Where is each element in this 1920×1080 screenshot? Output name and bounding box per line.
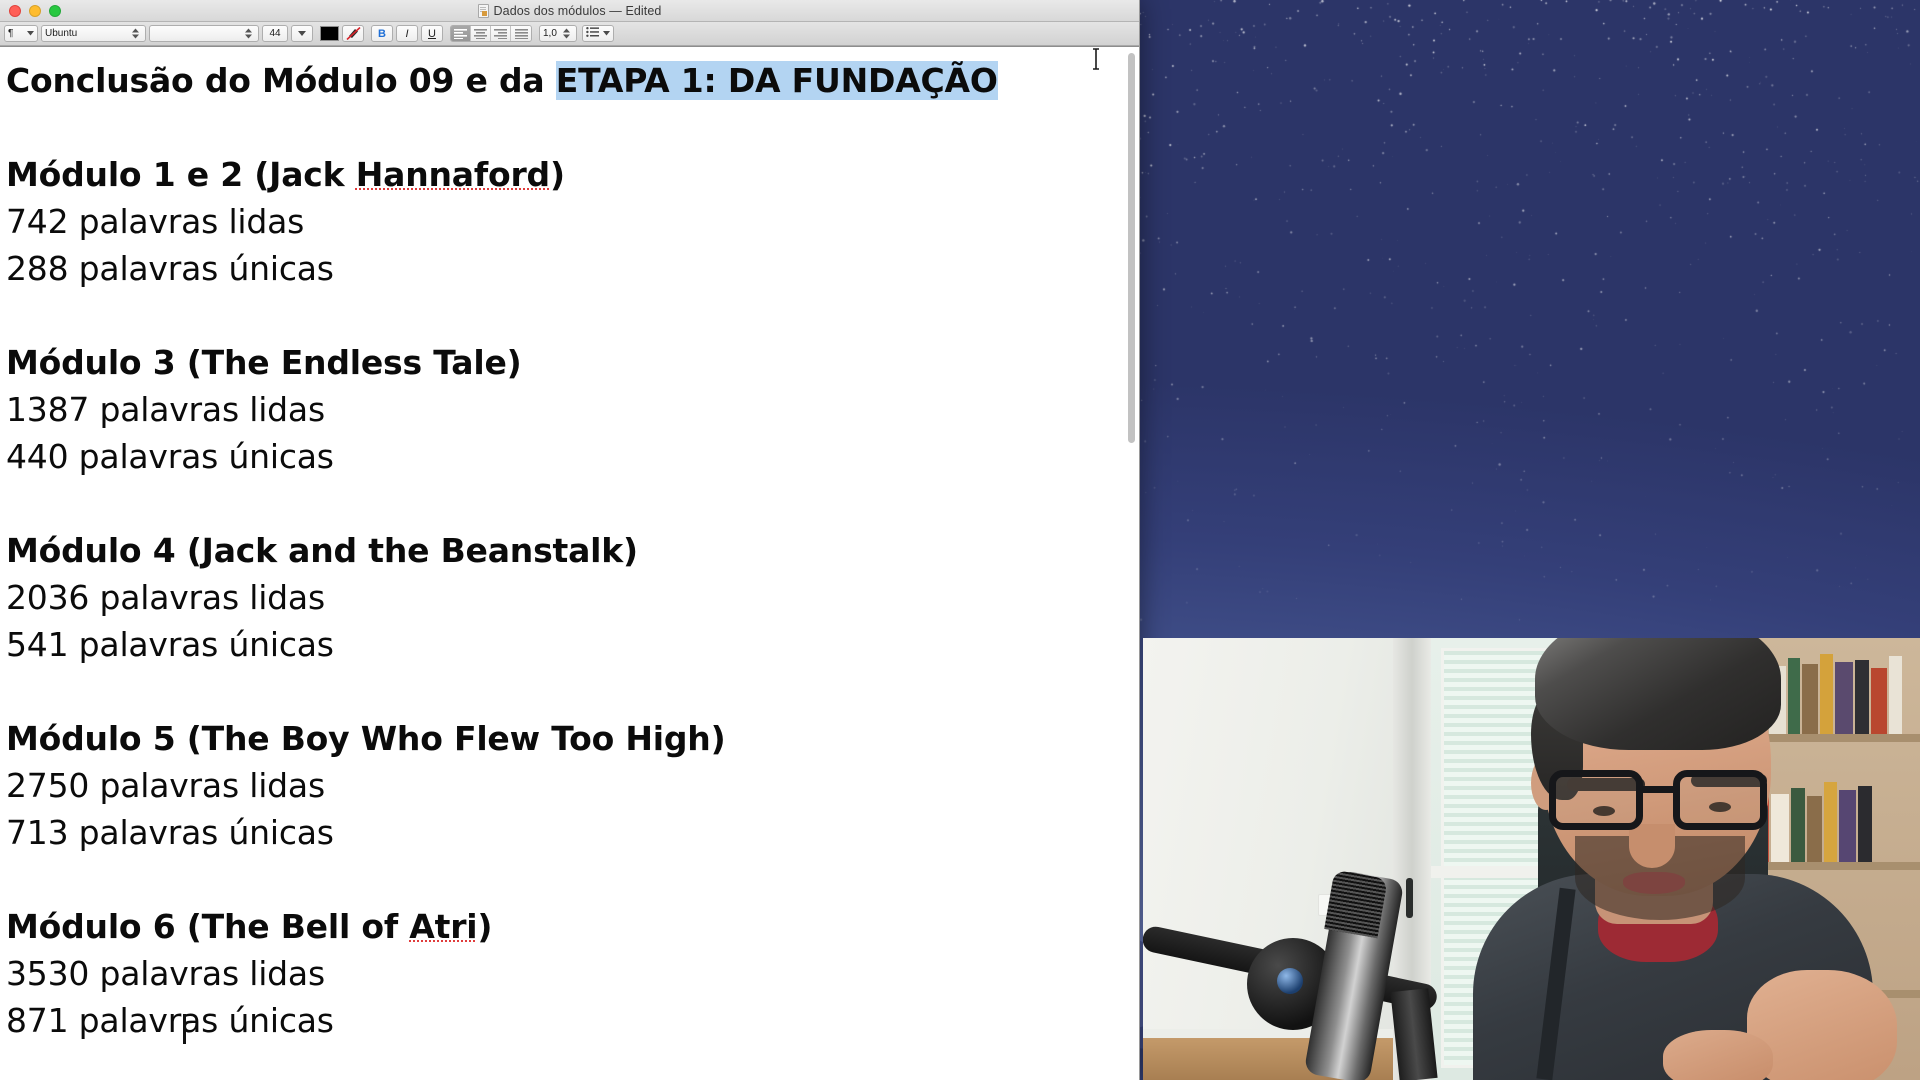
blank-line bbox=[6, 292, 1124, 339]
stepper-icon bbox=[563, 28, 573, 39]
module-heading-prefix: Módulo 1 e 2 (Jack bbox=[6, 155, 356, 194]
align-justify-button[interactable] bbox=[511, 26, 531, 41]
module-words-read: 1387 palavras lidas bbox=[6, 386, 1124, 433]
line-spacing-value: 1,0 bbox=[543, 28, 557, 39]
document-text[interactable]: Conclusão do Módulo 09 e da ETAPA 1: DA … bbox=[0, 47, 1124, 1080]
module-heading[interactable]: Módulo 1 e 2 (Jack Hannaford) bbox=[6, 151, 1124, 198]
module-heading[interactable]: Módulo 5 (The Boy Who Flew Too High) bbox=[6, 715, 1124, 762]
font-size-dropdown[interactable] bbox=[291, 25, 313, 42]
document-page[interactable]: Conclusão do Módulo 09 e da ETAPA 1: DA … bbox=[0, 47, 1139, 1080]
title-plain-text: Conclusão do Módulo 09 e da bbox=[6, 61, 556, 100]
person-mouth bbox=[1623, 872, 1685, 894]
module-words-read: 3530 palavras lidas bbox=[6, 950, 1124, 997]
glasses-bridge bbox=[1643, 786, 1673, 793]
blank-line bbox=[6, 480, 1124, 527]
door-handle bbox=[1406, 878, 1413, 918]
module-unique-words: 871 palavras únicas bbox=[6, 997, 1124, 1044]
title-selected-text[interactable]: ETAPA 1: DA FUNDAÇÃO bbox=[556, 61, 998, 100]
font-style-select[interactable] bbox=[149, 25, 259, 42]
font-size-field[interactable]: 44 bbox=[262, 25, 288, 42]
close-button[interactable] bbox=[9, 5, 21, 17]
stepper-icon bbox=[245, 28, 255, 39]
textedit-window[interactable]: Dados dos módulos — Edited ¶ Ubuntu 44 bbox=[0, 0, 1140, 1080]
align-justify-icon bbox=[515, 29, 528, 39]
module-heading-suffix: ) bbox=[477, 907, 492, 946]
zoom-button[interactable] bbox=[49, 5, 61, 17]
scrollbar-thumb[interactable] bbox=[1128, 53, 1135, 443]
module-heading[interactable]: Módulo 6 (The Bell of Atri) bbox=[6, 903, 1124, 950]
document-title-line[interactable]: Conclusão do Módulo 09 e da ETAPA 1: DA … bbox=[6, 57, 1124, 104]
module-unique-words: 288 palavras únicas bbox=[6, 245, 1124, 292]
font-family-value: Ubuntu bbox=[45, 28, 77, 39]
highlight-color-button[interactable] bbox=[342, 25, 364, 42]
chevron-down-icon bbox=[27, 28, 34, 39]
webcam-overlay bbox=[1143, 638, 1920, 1080]
highlighter-icon bbox=[346, 27, 361, 40]
module-words-read: 2750 palavras lidas bbox=[6, 762, 1124, 809]
font-size-value: 44 bbox=[269, 28, 280, 39]
glasses-lens bbox=[1673, 770, 1767, 830]
bullet-list-icon bbox=[586, 27, 599, 40]
module-heading[interactable]: Módulo 4 (Jack and the Beanstalk) bbox=[6, 527, 1124, 574]
person-hand bbox=[1663, 1030, 1773, 1080]
blank-line bbox=[6, 668, 1124, 715]
line-spacing-select[interactable]: 1,0 bbox=[539, 25, 577, 42]
module-words-read: 2036 palavras lidas bbox=[6, 574, 1124, 621]
text-caret bbox=[183, 1014, 186, 1044]
font-family-select[interactable]: Ubuntu bbox=[41, 25, 146, 42]
module-unique-words: 440 palavras únicas bbox=[6, 433, 1124, 480]
align-center-button[interactable] bbox=[471, 26, 491, 41]
module-heading-prefix: Módulo 3 (The Endless Tale) bbox=[6, 343, 522, 382]
window-title: Dados dos módulos — Edited bbox=[494, 4, 662, 18]
pilcrow-icon: ¶ bbox=[8, 28, 13, 39]
module-heading-prefix: Módulo 5 (The Boy Who Flew Too High) bbox=[6, 719, 725, 758]
stepper-icon bbox=[132, 28, 142, 39]
underline-button[interactable]: U bbox=[421, 25, 443, 42]
blank-line bbox=[6, 104, 1124, 151]
eyeglasses bbox=[1549, 770, 1775, 832]
person-hair bbox=[1535, 638, 1781, 750]
misspelled-word[interactable]: Hannaford bbox=[356, 155, 550, 194]
window-controls[interactable] bbox=[0, 5, 61, 17]
chevron-down-icon bbox=[603, 28, 610, 39]
align-left-button[interactable] bbox=[451, 26, 471, 41]
module-unique-words: 713 palavras únicas bbox=[6, 809, 1124, 856]
align-left-icon bbox=[454, 29, 467, 39]
module-words-read: 742 palavras lidas bbox=[6, 198, 1124, 245]
align-right-icon bbox=[494, 29, 507, 39]
align-right-button[interactable] bbox=[491, 26, 511, 41]
format-toolbar[interactable]: ¶ Ubuntu 44 bbox=[0, 22, 1139, 46]
module-heading-prefix: Módulo 4 (Jack and the Beanstalk) bbox=[6, 531, 638, 570]
vertical-scrollbar[interactable] bbox=[1124, 47, 1139, 1080]
bold-button[interactable]: B bbox=[371, 25, 393, 42]
module-heading-prefix: Módulo 6 (The Bell of bbox=[6, 907, 409, 946]
window-titlebar[interactable]: Dados dos módulos — Edited bbox=[0, 0, 1139, 22]
glasses-lens bbox=[1549, 770, 1643, 830]
italic-button[interactable]: I bbox=[396, 25, 418, 42]
misspelled-word[interactable]: Atri bbox=[409, 907, 477, 946]
align-center-icon bbox=[474, 29, 487, 39]
module-heading[interactable]: Módulo 3 (The Endless Tale) bbox=[6, 339, 1124, 386]
chevron-down-icon bbox=[298, 28, 306, 39]
list-style-dropdown[interactable] bbox=[582, 25, 614, 42]
paragraph-style-dropdown[interactable]: ¶ bbox=[4, 25, 38, 42]
minimize-button[interactable] bbox=[29, 5, 41, 17]
microphone-grill bbox=[1324, 870, 1388, 938]
module-heading-suffix: ) bbox=[550, 155, 565, 194]
module-unique-words: 541 palavras únicas bbox=[6, 621, 1124, 668]
window-title-group: Dados dos módulos — Edited bbox=[0, 0, 1139, 22]
document-icon bbox=[478, 4, 489, 18]
text-color-swatch[interactable] bbox=[320, 26, 339, 41]
text-align-group[interactable] bbox=[450, 25, 532, 42]
blank-line bbox=[6, 856, 1124, 903]
